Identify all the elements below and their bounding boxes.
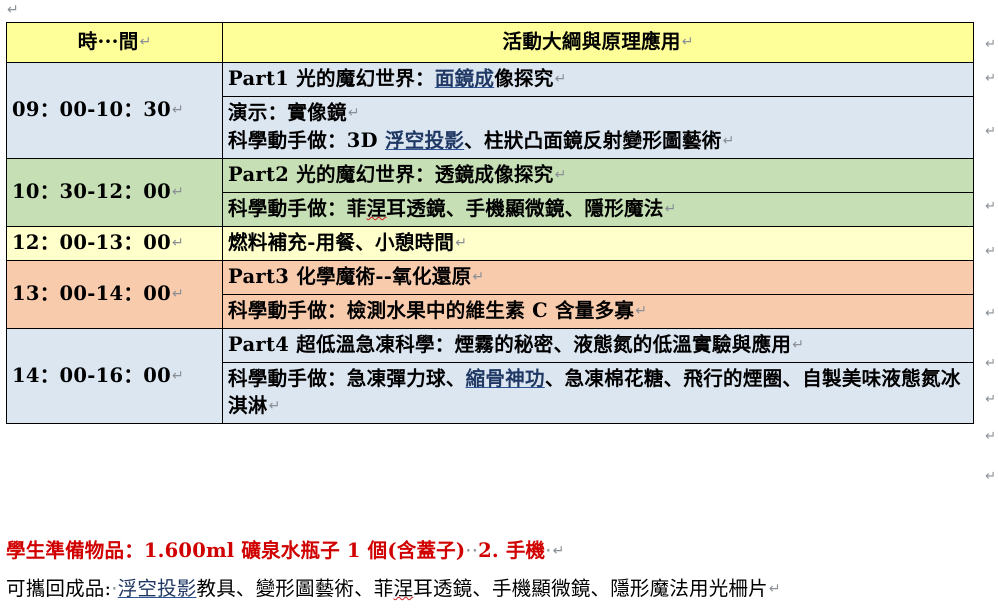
return-mark-icon: ↵ [454, 235, 467, 251]
footnote-1-segment-5: 耳透鏡、手機顯微鏡、隱形魔法用光柵片 [413, 577, 768, 600]
return-mark-icon: ↵ [664, 201, 677, 217]
return-mark-icon: ↵ [768, 581, 781, 597]
header-activity-label: 活動大綱與原理應用 [503, 30, 681, 53]
activity-line2-1-0-segment-0: 科學動手做：菲 [228, 197, 367, 220]
footnote-line-0: 學生準備物品：1.600ml 礦泉水瓶子 1 個(含蓋子)··2. 手機·↵ [6, 532, 974, 570]
margin-return-mark-icon-0: ↵ [985, 38, 996, 51]
activity-line-4-0-segment-0: Part4 超低溫急凍科學：煙霧的秘密、液態氮的低溫實驗與應用 [228, 333, 791, 356]
margin-return-mark-icon-6: ↵ [985, 357, 996, 370]
return-mark-icon: ↵ [6, 2, 19, 18]
return-mark-icon: ↵ [681, 34, 694, 50]
activity-line2-0-1-segment-0: 科學動手做：3D [228, 129, 385, 152]
activity-line2-4-0: 科學動手做：急凍彈力球、縮骨神功、急凍棉花糖、飛行的煙圈、自製美味液態氮冰淇淋↵ [228, 365, 968, 420]
return-mark-icon: ↵ [268, 398, 281, 414]
return-mark-icon: ↵ [171, 368, 184, 384]
leading-paragraph-mark: ↵ [6, 0, 19, 20]
time-cell-3: 13：00-14：00↵ [7, 261, 223, 329]
activity-line-4-0: Part4 超低溫急凍科學：煙霧的秘密、液態氮的低溫實驗與應用↵ [228, 331, 968, 359]
header-time-label: 時···間 [78, 30, 139, 53]
activity-line2-4-0-segment-1[interactable]: 縮骨神功 [466, 367, 545, 390]
return-mark-icon: ↵ [791, 337, 804, 353]
activity-line-0-0-segment-1[interactable]: 面鏡成 [435, 67, 494, 90]
activity-cell-4-b: 科學動手做：急凍彈力球、縮骨神功、急凍棉花糖、飛行的煙圈、自製美味液態氮冰淇淋↵ [223, 363, 974, 424]
activity-cell-1-b: 科學動手做：菲涅耳透鏡、手機顯微鏡、隱形魔法↵ [223, 193, 974, 227]
footnote-0-segment-2: 2. 手機 [478, 539, 545, 562]
activity-line2-0-1-segment-2: 、柱狀凸面鏡反射變形圖藝術 [464, 129, 721, 152]
activity-line2-3-0: 科學動手做：檢測水果中的維生素 C 含量多寡↵ [228, 297, 968, 325]
margin-return-mark-icon-4: ↵ [985, 245, 996, 258]
return-mark-icon: ↵ [554, 167, 567, 183]
activity-line2-1-0-segment-2: 耳透鏡、手機顯微鏡、隱形魔法 [386, 197, 663, 220]
margin-return-mark-icon-2: ↵ [985, 125, 996, 138]
return-mark-icon: ↵ [722, 133, 735, 149]
table-row: 14：00-16：00↵Part4 超低溫急凍科學：煙霧的秘密、液態氮的低溫實驗… [7, 329, 974, 363]
time-label: 14：00-16：00 [12, 364, 171, 387]
activity-line-1-0: Part2 光的魔幻世界：透鏡成像探究↵ [228, 161, 968, 189]
time-label: 10：30-12：00 [12, 180, 171, 203]
activity-cell-0-a: Part1 光的魔幻世界：面鏡成像探究↵ [223, 63, 974, 97]
return-mark-icon: ↵ [554, 71, 567, 87]
footnote-0-segment-0: 學生準備物品：1.600ml 礦泉水瓶子 1 個(含蓋子) [6, 539, 465, 562]
return-mark-icon: ↵ [171, 235, 184, 251]
activity-line-2-0-segment-0: 燃料補充-用餐、小憩時間 [228, 231, 454, 254]
table-row: 09：00-10：30↵Part1 光的魔幻世界：面鏡成像探究↵ [7, 63, 974, 97]
return-mark-icon: ↵ [347, 105, 360, 121]
document-page: ↵ 時···間↵ 活動大綱與原理應用↵ 09：00-10：30↵Part1 光的… [0, 0, 998, 615]
time-label: 12：00-13：00 [12, 231, 171, 254]
margin-return-mark-icon-1: ↵ [985, 72, 996, 85]
return-mark-icon: ↵ [634, 303, 647, 319]
return-mark-icon: ↵ [171, 286, 184, 302]
activity-cell-3-a: Part3 化學魔術--氧化還原↵ [223, 261, 974, 295]
activity-line2-0-0: 演示：實像鏡↵ [228, 99, 968, 127]
activity-line2-4-0-segment-0: 科學動手做：急凍彈力球、 [228, 367, 466, 390]
footnote-1-segment-4: 涅 [394, 577, 414, 600]
activity-cell-2-a: 燃料補充-用餐、小憩時間↵ [223, 227, 974, 261]
margin-return-mark-icon-9: ↵ [985, 470, 996, 483]
activity-line-3-0: Part3 化學魔術--氧化還原↵ [228, 263, 968, 291]
time-cell-1: 10：30-12：00↵ [7, 159, 223, 227]
activity-line-0-0-segment-0: Part1 光的魔幻世界： [228, 67, 435, 90]
activity-line-0-0-segment-2: 像探究 [494, 67, 553, 90]
time-label: 09：00-10：30 [12, 98, 171, 121]
footnote-0-segment-1: ·· [465, 539, 478, 562]
footnote-0-segment-3: · [545, 539, 551, 562]
activity-cell-1-a: Part2 光的魔幻世界：透鏡成像探究↵ [223, 159, 974, 193]
activity-cell-0-b: 演示：實像鏡↵科學動手做：3D 浮空投影、柱狀凸面鏡反射變形圖藝術↵ [223, 97, 974, 159]
footnote-line-1: 可攜回成品:·浮空投影教具、變形圖藝術、菲涅耳透鏡、手機顯微鏡、隱形魔法用光柵片… [6, 570, 974, 608]
activity-line2-3-0-segment-0: 科學動手做：檢測水果中的維生素 C 含量多寡 [228, 299, 634, 322]
margin-return-mark-icon-8: ↵ [985, 430, 996, 443]
activity-line-1-0-segment-0: Part2 光的魔幻世界：透鏡成像探究 [228, 163, 554, 186]
header-cell-time: 時···間↵ [7, 23, 223, 63]
time-cell-0: 09：00-10：30↵ [7, 63, 223, 159]
activity-line2-1-0: 科學動手做：菲涅耳透鏡、手機顯微鏡、隱形魔法↵ [228, 195, 968, 223]
activity-line2-0-0-segment-0: 演示：實像鏡 [228, 101, 347, 124]
margin-return-mark-icon-7: ↵ [985, 393, 996, 406]
return-mark-icon: ↵ [552, 543, 565, 559]
activity-cell-3-b: 科學動手做：檢測水果中的維生素 C 含量多寡↵ [223, 295, 974, 329]
table-row: 12：00-13：00↵燃料補充-用餐、小憩時間↵ [7, 227, 974, 261]
activity-line2-0-1: 科學動手做：3D 浮空投影、柱狀凸面鏡反射變形圖藝術↵ [228, 127, 968, 155]
footnote-1-segment-2[interactable]: 浮空投影 [118, 577, 197, 600]
activity-line-0-0: Part1 光的魔幻世界：面鏡成像探究↵ [228, 65, 968, 93]
header-cell-activity: 活動大綱與原理應用↵ [223, 23, 974, 63]
schedule-table: 時···間↵ 活動大綱與原理應用↵ 09：00-10：30↵Part1 光的魔幻… [6, 22, 974, 424]
activity-line2-1-0-segment-1: 涅 [367, 197, 387, 220]
activity-line-2-0: 燃料補充-用餐、小憩時間↵ [228, 229, 968, 257]
right-margin-paragraph-marks: ↵↵↵↵↵↵↵↵↵↵ [980, 0, 996, 615]
time-cell-2: 12：00-13：00↵ [7, 227, 223, 261]
table-header-row: 時···間↵ 活動大綱與原理應用↵ [7, 23, 974, 63]
time-label: 13：00-14：00 [12, 282, 171, 305]
return-mark-icon: ↵ [139, 34, 152, 50]
activity-cell-4-a: Part4 超低溫急凍科學：煙霧的秘密、液態氮的低溫實驗與應用↵ [223, 329, 974, 363]
time-cell-4: 14：00-16：00↵ [7, 329, 223, 424]
footnote-1-segment-3: 教具、變形圖藝術、菲 [197, 577, 394, 600]
activity-line-3-0-segment-0: Part3 化學魔術--氧化還原 [228, 265, 471, 288]
return-mark-icon: ↵ [171, 102, 184, 118]
table-row: 13：00-14：00↵Part3 化學魔術--氧化還原↵ [7, 261, 974, 295]
table-row: 10：30-12：00↵Part2 光的魔幻世界：透鏡成像探究↵ [7, 159, 974, 193]
footnotes-block: 學生準備物品：1.600ml 礦泉水瓶子 1 個(含蓋子)··2. 手機·↵可攜… [6, 532, 974, 608]
table-body: 時···間↵ 活動大綱與原理應用↵ 09：00-10：30↵Part1 光的魔幻… [7, 23, 974, 424]
return-mark-icon: ↵ [471, 269, 484, 285]
return-mark-icon: ↵ [171, 184, 184, 200]
footnote-1-segment-0: 可攜回成品: [6, 577, 111, 600]
activity-line2-0-1-segment-1[interactable]: 浮空投影 [385, 129, 464, 152]
margin-return-mark-icon-3: ↵ [985, 200, 996, 213]
margin-return-mark-icon-5: ↵ [985, 307, 996, 320]
